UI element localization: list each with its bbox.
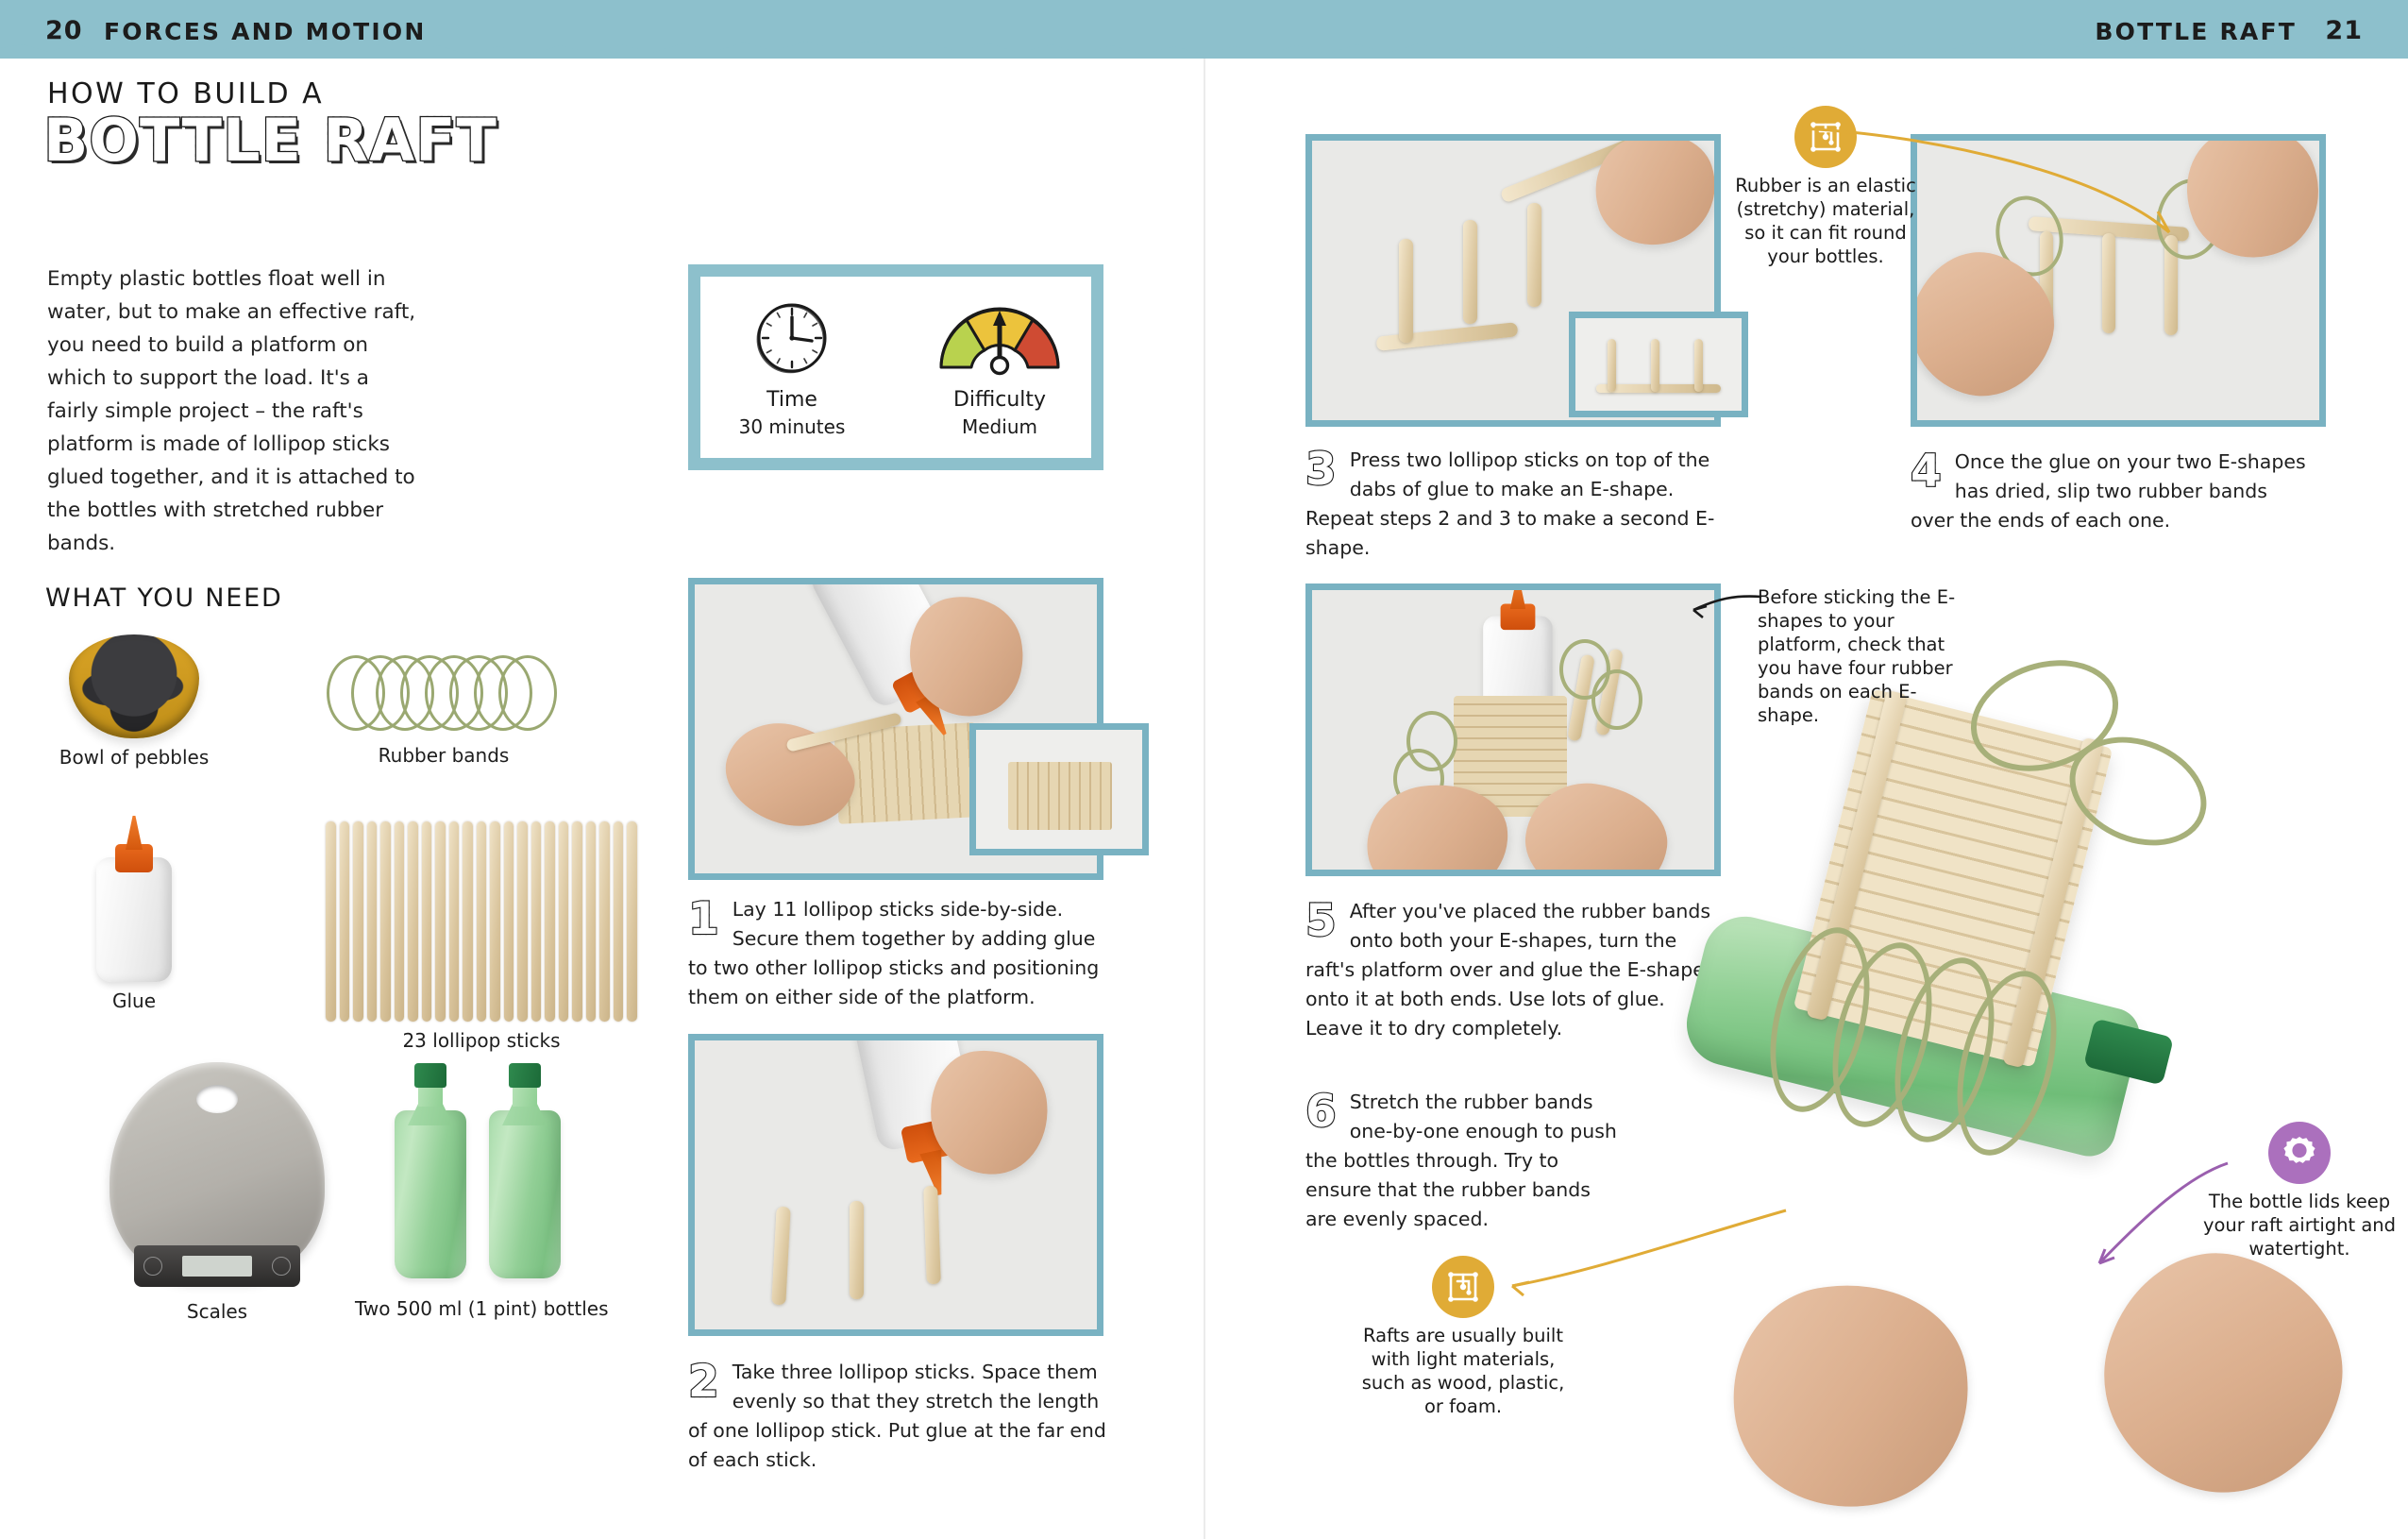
material-lollipop-sticks: 23 lollipop sticks bbox=[321, 821, 642, 1052]
step-number: 5 bbox=[1305, 899, 1337, 944]
lollipop-stick bbox=[1527, 203, 1541, 307]
lollipop-sticks-photo bbox=[326, 821, 637, 1022]
callout-text: Rafts are usually built with light mater… bbox=[1359, 1324, 1567, 1418]
material-caption: Two 500 ml (1 pint) bottles bbox=[355, 1297, 600, 1320]
page-title: BOTTLE RAFT bbox=[43, 106, 497, 175]
step-text: Once the glue on your two E-shapes has d… bbox=[1911, 450, 2306, 532]
info-difficulty-value: Medium bbox=[962, 415, 1037, 438]
gauge-icon bbox=[935, 297, 1064, 379]
callout-text: Before sticking the E-shapes to your pla… bbox=[1758, 585, 1975, 727]
material-caption: Rubber bands bbox=[312, 744, 576, 767]
step-number: 1 bbox=[688, 897, 719, 942]
step-text: After you've placed the rubber bands ont… bbox=[1305, 900, 1715, 1040]
material-rubber-bands: Rubber bands bbox=[312, 651, 576, 767]
lollipop-stick bbox=[1376, 322, 1519, 351]
rubber-bands-photo bbox=[327, 651, 561, 735]
step-number: 6 bbox=[1305, 1090, 1337, 1135]
material-scales: Scales bbox=[104, 1062, 330, 1323]
material-bowl-of-pebbles: Bowl of pebbles bbox=[47, 634, 221, 769]
material-caption: Glue bbox=[68, 989, 200, 1012]
lollipop-stick bbox=[1651, 339, 1659, 392]
lollipop-stick bbox=[923, 1186, 941, 1284]
section-title-right: BOTTLE RAFT bbox=[2095, 18, 2297, 45]
what-you-need-heading: WHAT YOU NEED bbox=[45, 583, 283, 613]
lollipop-stick bbox=[1694, 339, 1703, 392]
step-text: Lay 11 lollipop sticks side-by-side. Sec… bbox=[688, 898, 1099, 1008]
lollipop-stick bbox=[1608, 339, 1616, 392]
step-number: 3 bbox=[1305, 448, 1337, 493]
page-number-right: 21 bbox=[2325, 16, 2363, 45]
step-number: 4 bbox=[1911, 449, 1942, 495]
lollipop-stick bbox=[2102, 233, 2115, 333]
step-5-photo bbox=[1305, 583, 1721, 876]
info-difficulty-label: Difficulty bbox=[953, 388, 1046, 412]
step-2-photo bbox=[688, 1034, 1103, 1336]
lollipop-stick bbox=[850, 1201, 864, 1299]
info-time: Time 30 minutes bbox=[688, 264, 896, 470]
section-title-left: FORCES AND MOTION bbox=[104, 18, 427, 45]
material-caption: Bowl of pebbles bbox=[47, 746, 221, 769]
material-caption: Scales bbox=[104, 1300, 330, 1323]
page-number-left: 20 bbox=[45, 16, 83, 45]
intro-paragraph: Empty plastic bottles float well in wate… bbox=[47, 262, 423, 560]
page-spine-divider bbox=[1204, 59, 1205, 1539]
finished-bottle-raft-photo bbox=[1661, 680, 2407, 1539]
book-page-spread: 20 FORCES AND MOTION BOTTLE RAFT 21 HOW … bbox=[0, 0, 2408, 1539]
info-time-value: 30 minutes bbox=[739, 415, 846, 438]
step-text: Take three lollipop sticks. Space them e… bbox=[688, 1361, 1106, 1471]
callout-connector-line bbox=[1510, 1209, 1793, 1312]
plastic-bottles-photo bbox=[355, 1059, 600, 1278]
step-text: Press two lollipop sticks on top of the … bbox=[1305, 448, 1714, 559]
step-3-photo-inset bbox=[1569, 312, 1748, 417]
callout-pointer-line bbox=[1678, 567, 1773, 633]
step-1-photo-inset bbox=[969, 723, 1149, 855]
glue-bottle-photo bbox=[91, 814, 177, 982]
step-2: 2Take three lollipop sticks. Space them … bbox=[688, 1358, 1109, 1475]
material-glue: Glue bbox=[68, 814, 200, 1012]
lollipop-stick bbox=[1463, 220, 1477, 324]
bowl-of-pebbles-photo bbox=[69, 634, 199, 738]
project-info-content: Time 30 minutes Difficulty Medium bbox=[688, 264, 1103, 470]
step-5: 5After you've placed the rubber bands on… bbox=[1305, 897, 1721, 1043]
callout-connector-line bbox=[1793, 121, 2190, 244]
lollipop-stick bbox=[771, 1207, 790, 1306]
circuit-badge-icon bbox=[1432, 1256, 1494, 1318]
material-caption: 23 lollipop sticks bbox=[321, 1029, 642, 1052]
info-time-label: Time bbox=[766, 388, 817, 412]
kitchen-scales-photo bbox=[109, 1062, 325, 1279]
step-4: 4Once the glue on your two E-shapes has … bbox=[1911, 448, 2315, 535]
material-bottles: Two 500 ml (1 pint) bottles bbox=[355, 1059, 600, 1320]
step-1: 1Lay 11 lollipop sticks side-by-side. Se… bbox=[688, 895, 1109, 1012]
step-number: 2 bbox=[688, 1360, 719, 1405]
gear-badge-icon bbox=[2268, 1122, 2331, 1184]
info-difficulty: Difficulty Medium bbox=[896, 264, 1103, 470]
platform-closeup bbox=[1008, 762, 1112, 830]
rubber-band bbox=[1591, 669, 1642, 730]
callout-check-four-bands: Before sticking the E-shapes to your pla… bbox=[1758, 585, 1975, 727]
callout-connector-line bbox=[2094, 1159, 2235, 1282]
step-3: 3Press two lollipop sticks on top of the… bbox=[1305, 446, 1732, 563]
lollipop-stick bbox=[1399, 239, 1413, 343]
clock-icon bbox=[751, 297, 833, 379]
